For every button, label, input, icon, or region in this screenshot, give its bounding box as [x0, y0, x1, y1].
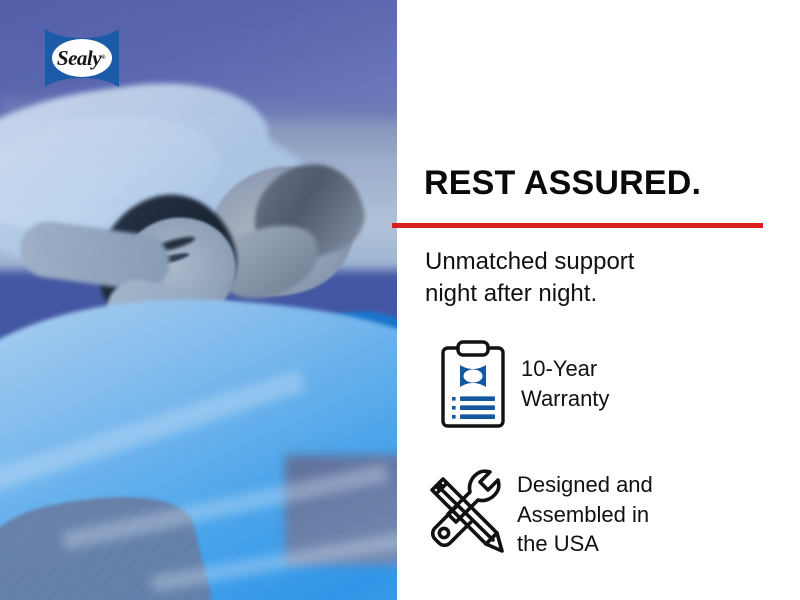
feature-warranty-line-2: Warranty	[521, 384, 609, 414]
headline: REST ASSURED.	[424, 164, 701, 203]
feature-usa-line-1: Designed and	[517, 470, 653, 500]
clipboard-icon-graphic	[436, 340, 510, 430]
clipboard-list-lines	[452, 396, 495, 419]
content-panel: REST ASSURED. Unmatched support night af…	[397, 0, 800, 600]
red-divider-rule	[392, 223, 763, 228]
sealy-advertisement: Sealy® REST ASSURED. Unmatched support n…	[0, 0, 800, 600]
clipboard-warranty-icon	[425, 340, 521, 430]
feature-usa-line-3: the USA	[517, 529, 653, 559]
pencil-wrench-icon-graphic	[423, 462, 515, 554]
clipboard-sealy-bowtie	[460, 365, 486, 387]
sealy-logo-text: Sealy	[57, 46, 101, 71]
feature-warranty-text: 10-Year Warranty	[521, 340, 609, 413]
sealy-logo-wordmark: Sealy®	[43, 27, 121, 89]
feature-warranty: 10-Year Warranty	[425, 340, 609, 430]
subheadline-line-1: Unmatched support	[425, 246, 755, 278]
subheadline: Unmatched support night after night.	[425, 246, 755, 309]
couple-sleeping-in-bed-photo: Sealy®	[0, 0, 397, 600]
pencil-wrench-icon	[421, 462, 517, 554]
feature-usa-text: Designed and Assembled in the USA	[517, 462, 653, 559]
night-blue-tint	[0, 0, 397, 600]
sealy-logo: Sealy®	[43, 27, 121, 89]
feature-warranty-line-1: 10-Year	[521, 354, 609, 384]
sealy-registered-mark: ®	[101, 55, 105, 61]
feature-made-in-usa: Designed and Assembled in the USA	[421, 462, 653, 559]
feature-usa-line-2: Assembled in	[517, 500, 653, 530]
subheadline-line-2: night after night.	[425, 278, 755, 310]
